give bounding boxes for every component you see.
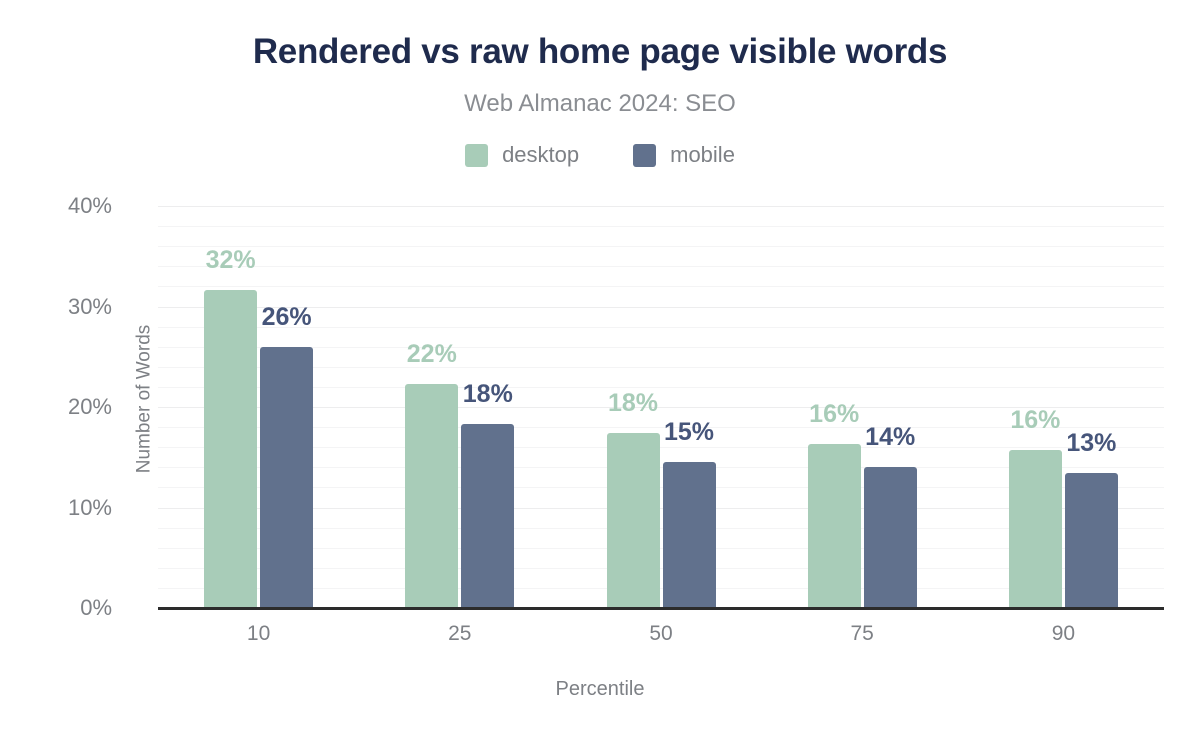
x-axis-tick-label-10: 10: [247, 622, 270, 646]
chart-container: Rendered vs raw home page visible words …: [0, 0, 1200, 742]
bar-value-label-desktop-75: 16%: [809, 400, 859, 429]
bar-value-label-mobile-50: 15%: [664, 418, 714, 447]
bar-value-label-mobile-90: 13%: [1066, 429, 1116, 458]
bar-value-label-desktop-50: 18%: [608, 389, 658, 418]
x-axis-baseline: [158, 607, 1164, 610]
plot-area: Number of Words 0%10%20%30%40%32%26%22%1…: [158, 206, 1164, 608]
bar-mobile-50[interactable]: [663, 462, 716, 608]
bar-desktop-75[interactable]: [808, 444, 861, 608]
legend-swatch-icon: [633, 144, 656, 167]
bar-desktop-25[interactable]: [405, 384, 458, 608]
legend-swatch-icon: [465, 144, 488, 167]
bar-desktop-10[interactable]: [204, 290, 257, 608]
chart-title: Rendered vs raw home page visible words: [0, 32, 1200, 72]
x-axis-title: Percentile: [0, 678, 1200, 701]
bar-mobile-10[interactable]: [260, 347, 313, 608]
bar-value-label-desktop-90: 16%: [1010, 406, 1060, 435]
bar-mobile-25[interactable]: [461, 424, 514, 608]
bar-desktop-50[interactable]: [607, 433, 660, 608]
bar-value-label-mobile-10: 26%: [262, 303, 312, 332]
chart-legend: desktopmobile: [0, 142, 1200, 168]
legend-label: mobile: [670, 142, 735, 168]
bar-desktop-90[interactable]: [1009, 450, 1062, 608]
y-axis-tick-label: 20%: [0, 394, 112, 420]
x-axis-tick-label-75: 75: [851, 622, 874, 646]
legend-item-desktop[interactable]: desktop: [465, 142, 579, 168]
bar-value-label-mobile-25: 18%: [463, 380, 513, 409]
legend-item-mobile[interactable]: mobile: [633, 142, 735, 168]
bar-mobile-75[interactable]: [864, 467, 917, 608]
x-axis-tick-label-90: 90: [1052, 622, 1075, 646]
x-axis-tick-label-25: 25: [448, 622, 471, 646]
y-axis-title: Number of Words: [133, 325, 155, 474]
y-axis-tick-label: 10%: [0, 495, 112, 521]
bar-value-label-desktop-10: 32%: [206, 246, 256, 275]
bar-value-label-desktop-25: 22%: [407, 340, 457, 369]
x-axis-tick-label-50: 50: [649, 622, 672, 646]
legend-label: desktop: [502, 142, 579, 168]
bar-mobile-90[interactable]: [1065, 473, 1118, 608]
y-axis-tick-label: 30%: [0, 294, 112, 320]
bar-value-label-mobile-75: 14%: [865, 423, 915, 452]
y-axis-tick-label: 40%: [0, 193, 112, 219]
y-axis-tick-label: 0%: [0, 595, 112, 621]
chart-subtitle: Web Almanac 2024: SEO: [0, 90, 1200, 118]
